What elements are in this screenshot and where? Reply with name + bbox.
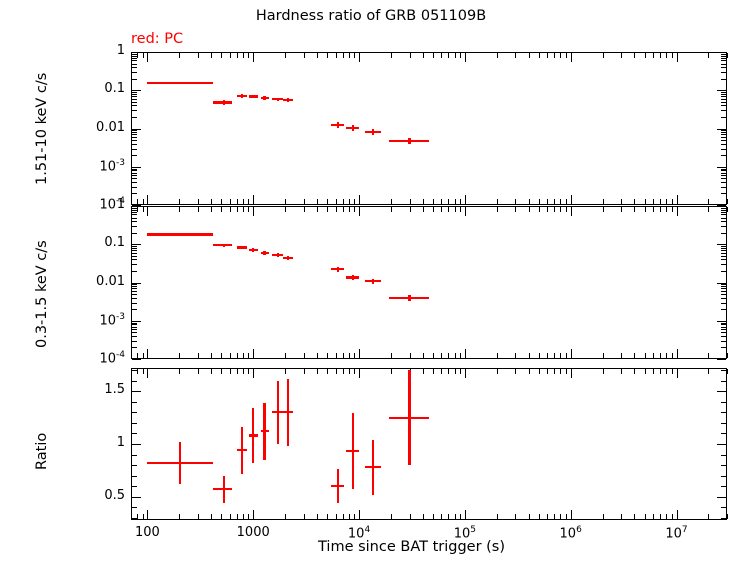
axis-tick [529,353,530,358]
axis-tick [132,433,137,434]
axis-tick [132,193,137,194]
axis-tick [448,199,449,204]
axis-tick [721,298,726,299]
page-title: Hardness ratio of GRB 051109B [0,8,742,24]
axis-tick [285,199,286,204]
axis-tick [132,486,137,487]
axis-tick [198,353,199,358]
axis-tick [721,99,726,100]
axis-tick [554,353,555,358]
y-tick-label: 0.01 [69,120,125,135]
axis-tick [433,53,434,58]
axis-tick [441,199,442,204]
axis-tick [721,178,726,179]
axis-tick [132,129,141,130]
axis-tick [721,253,726,254]
axis-tick [721,193,726,194]
axis-tick [433,369,434,374]
axis-tick [237,207,238,212]
axis-tick [560,514,561,519]
axis-tick [721,54,726,55]
data-point-yerror [179,82,181,85]
axis-tick [603,53,604,58]
axis-tick [634,207,635,212]
axis-tick [285,53,286,58]
axis-tick [708,369,709,374]
axis-tick [672,207,673,212]
axis-tick [132,271,137,272]
axis-tick [721,137,726,138]
axis-tick [131,353,132,358]
axis-tick [721,465,726,466]
axis-tick [304,199,305,204]
axis-tick [132,54,137,55]
axis-tick [317,514,318,519]
y-tick-label: 10-3 [69,158,125,174]
data-point-yerror [252,248,254,252]
axis-tick [708,353,709,358]
axis-tick [721,347,726,348]
axis-tick [666,199,667,204]
axis-tick [455,207,456,212]
axis-tick [539,207,540,212]
axis-tick [727,207,728,212]
axis-tick [721,173,726,174]
axis-tick [230,353,231,358]
axis-tick [359,53,360,62]
axis-tick [132,402,137,403]
axis-tick [717,359,726,360]
data-point-yerror [263,403,265,460]
axis-tick [566,353,567,358]
axis-tick [660,369,661,374]
y-axis-label-middle: 0.3-1.5 keV c/s [34,240,50,348]
axis-tick [304,353,305,358]
axis-tick [560,199,561,204]
axis-tick [132,67,137,68]
axis-tick [721,92,726,93]
axis-tick [677,207,678,216]
axis-tick [721,175,726,176]
axis-tick [433,207,434,212]
y-tick-label: 10-4 [69,350,125,366]
axis-tick [727,199,728,204]
axis-tick [132,370,137,371]
axis-tick [132,105,137,106]
axis-tick [253,510,254,519]
y-tick-label: 1 [69,435,125,450]
axis-tick [708,514,709,519]
axis-tick [460,199,461,204]
x-tick-label: 107 [651,525,703,541]
axis-tick [672,53,673,58]
data-point-yerror [252,408,254,463]
axis-tick [179,53,180,58]
axis-tick [433,353,434,358]
axis-tick [211,207,212,212]
axis-tick [137,207,138,212]
axis-tick [147,369,148,378]
axis-tick [571,369,572,378]
axis-tick [547,369,548,374]
axis-tick [721,96,726,97]
axis-tick [721,94,726,95]
axis-tick [132,309,137,310]
axis-tick [354,369,355,374]
axis-tick [721,72,726,73]
axis-tick [465,195,466,204]
data-point-yerror [241,246,243,249]
axis-tick [721,433,726,434]
axis-tick [132,144,137,145]
axis-tick [717,444,726,445]
axis-tick [349,369,350,374]
axis-tick [243,53,244,58]
axis-tick [460,353,461,358]
axis-tick [721,110,726,111]
axis-tick [391,207,392,212]
axis-tick [391,199,392,204]
axis-tick [727,514,728,519]
axis-tick [721,507,726,508]
axis-tick [327,369,328,374]
axis-tick [132,283,141,284]
axis-tick [448,353,449,358]
axis-tick [237,514,238,519]
axis-tick [721,169,726,170]
data-point-yerror [408,370,410,465]
axis-tick [132,212,137,213]
axis-tick [515,207,516,212]
axis-tick [645,199,646,204]
axis-tick [721,218,726,219]
axis-tick [137,369,138,374]
axis-tick [243,207,244,212]
axis-tick [132,291,137,292]
axis-tick [336,353,337,358]
axis-tick [455,353,456,358]
axis-tick [721,286,726,287]
data-point-yerror [263,251,265,255]
axis-tick [243,199,244,204]
axis-tick [132,90,141,91]
axis-tick [717,129,726,130]
axis-tick [317,369,318,374]
axis-tick [410,199,411,204]
axis-tick [131,199,132,204]
axis-tick [721,210,726,211]
axis-tick [243,353,244,358]
axis-tick [554,199,555,204]
axis-tick [336,199,337,204]
axis-tick [721,117,726,118]
axis-tick [198,369,199,374]
axis-tick [621,53,622,58]
data-point-yerror [352,125,354,131]
axis-tick [423,199,424,204]
axis-tick [143,53,144,58]
axis-tick [147,195,148,204]
axis-tick [349,207,350,212]
axis-tick [566,369,567,374]
axis-tick [708,207,709,212]
axis-tick [132,359,141,360]
axis-tick [132,329,137,330]
axis-tick [349,353,350,358]
axis-tick [230,514,231,519]
axis-tick [132,175,137,176]
axis-tick [677,369,678,378]
axis-tick [677,53,678,62]
data-point-yerror [372,279,374,285]
axis-tick [248,353,249,358]
axis-tick [465,510,466,519]
axis-tick [132,182,137,183]
data-point-yerror [337,469,339,503]
axis-tick [721,455,726,456]
axis-tick [211,199,212,204]
y-tick-label: 1 [69,43,125,58]
axis-tick [660,199,661,204]
axis-tick [132,167,141,168]
axis-tick [721,329,726,330]
axis-tick [721,212,726,213]
axis-tick [497,369,498,374]
data-point-yerror [408,138,410,144]
x-tick-label: 106 [545,525,597,541]
axis-tick [423,369,424,374]
axis-tick [566,207,567,212]
axis-tick [721,303,726,304]
axis-tick [721,336,726,337]
axis-tick [132,134,137,135]
axis-tick [448,53,449,58]
x-tick-label: 100 [121,525,173,540]
axis-tick [560,369,561,374]
axis-tick [132,336,137,337]
axis-tick [132,286,137,287]
axis-tick [304,53,305,58]
axis-tick [391,53,392,58]
data-point-yerror [352,413,354,489]
axis-tick [132,178,137,179]
axis-tick [132,117,137,118]
axis-tick [677,510,678,519]
axis-tick [727,369,728,374]
axis-tick [708,53,709,58]
axis-tick [132,323,137,324]
axis-tick [211,53,212,58]
axis-tick [721,341,726,342]
axis-tick [603,369,604,374]
axis-tick [634,514,635,519]
axis-tick [221,369,222,374]
axis-tick [143,369,144,374]
axis-tick [721,64,726,65]
axis-tick [132,341,137,342]
axis-tick [391,514,392,519]
data-point-yerror [287,98,289,102]
axis-tick [132,218,137,219]
axis-tick [441,514,442,519]
axis-tick [566,514,567,519]
axis-tick [547,207,548,212]
axis-tick [721,56,726,57]
axis-tick [221,199,222,204]
axis-tick [554,53,555,58]
axis-tick [132,507,137,508]
axis-tick [132,497,141,498]
y-tick-label: 0.1 [69,81,125,96]
axis-tick [132,110,137,111]
axis-tick [721,144,726,145]
axis-tick [465,207,466,216]
axis-tick [621,369,622,374]
axis-tick [721,233,726,234]
axis-tick [645,207,646,212]
axis-tick [666,514,667,519]
axis-tick [455,53,456,58]
axis-tick [317,353,318,358]
axis-tick [132,60,137,61]
axis-tick [179,369,180,374]
axis-tick [721,332,726,333]
panel-bottom-ratio [131,368,727,520]
axis-tick [653,353,654,358]
axis-tick [317,199,318,204]
axis-tick [237,199,238,204]
axis-tick [460,514,461,519]
axis-tick [132,99,137,100]
axis-tick [721,259,726,260]
axis-tick [653,207,654,212]
data-point-yerror [287,379,289,447]
axis-tick [132,465,137,466]
axis-tick [441,369,442,374]
data-point-yerror [241,94,243,98]
axis-tick [285,369,286,374]
axis-tick [634,369,635,374]
axis-tick [132,72,137,73]
axis-tick [721,518,726,519]
axis-tick [248,199,249,204]
axis-tick [547,199,548,204]
panel-top-hardness [131,52,727,205]
axis-tick [132,412,137,413]
axis-tick [137,514,138,519]
axis-tick [554,369,555,374]
axis-tick [354,53,355,58]
axis-tick [571,195,572,204]
axis-tick [354,199,355,204]
data-point-yerror [223,244,225,247]
axis-tick [132,518,137,519]
axis-tick [721,155,726,156]
axis-tick [515,369,516,374]
axis-tick [317,53,318,58]
axis-tick [433,514,434,519]
axis-tick [336,207,337,212]
y-tick-label: 1.5 [69,382,125,397]
data-point-yerror [277,381,279,444]
axis-tick [179,353,180,358]
axis-tick [515,514,516,519]
axis-tick [448,369,449,374]
axis-tick [132,233,137,234]
axis-tick [603,353,604,358]
axis-tick [677,349,678,358]
axis-tick [359,349,360,358]
axis-tick [285,207,286,212]
axis-tick [721,370,726,371]
axis-tick [243,514,244,519]
axis-tick [465,53,466,62]
axis-tick [132,79,137,80]
axis-tick [465,349,466,358]
axis-tick [465,369,466,378]
axis-tick [237,53,238,58]
y-axis-label-top: 1.51-10 keV c/s [34,73,50,185]
axis-tick [132,244,141,245]
axis-tick [721,309,726,310]
axis-tick [727,353,728,358]
axis-tick [143,207,144,212]
axis-tick [132,52,141,53]
axis-tick [721,271,726,272]
axis-tick [717,321,726,322]
axis-tick [391,369,392,374]
axis-tick [132,140,137,141]
axis-tick [132,455,137,456]
axis-tick [448,207,449,212]
axis-tick [717,206,726,207]
data-point-yerror [372,440,374,495]
axis-tick [666,207,667,212]
axis-tick [354,353,355,358]
x-axis-label: Time since BAT trigger (s) [318,539,505,555]
data-point-yerror [277,98,279,101]
axis-tick [198,53,199,58]
axis-tick [603,199,604,204]
axis-tick [645,514,646,519]
axis-tick [653,514,654,519]
axis-tick [336,514,337,519]
axis-tick [645,53,646,58]
axis-tick [660,53,661,58]
axis-tick [327,207,328,212]
axis-tick [132,149,137,150]
axis-tick [132,476,137,477]
axis-tick [721,60,726,61]
axis-tick [132,169,137,170]
axis-tick [441,53,442,58]
y-tick-label: 1 [69,197,125,212]
axis-tick [721,221,726,222]
legend-label: red: PC [131,31,183,47]
axis-tick [603,514,604,519]
axis-tick [497,53,498,58]
axis-tick [132,155,137,156]
axis-tick [132,259,137,260]
axis-tick [132,206,141,207]
axis-tick [497,353,498,358]
y-tick-label: 0.01 [69,274,125,289]
axis-tick [721,486,726,487]
axis-tick [132,221,137,222]
axis-tick [672,514,673,519]
axis-tick [497,207,498,212]
data-point-yerror [372,129,374,135]
